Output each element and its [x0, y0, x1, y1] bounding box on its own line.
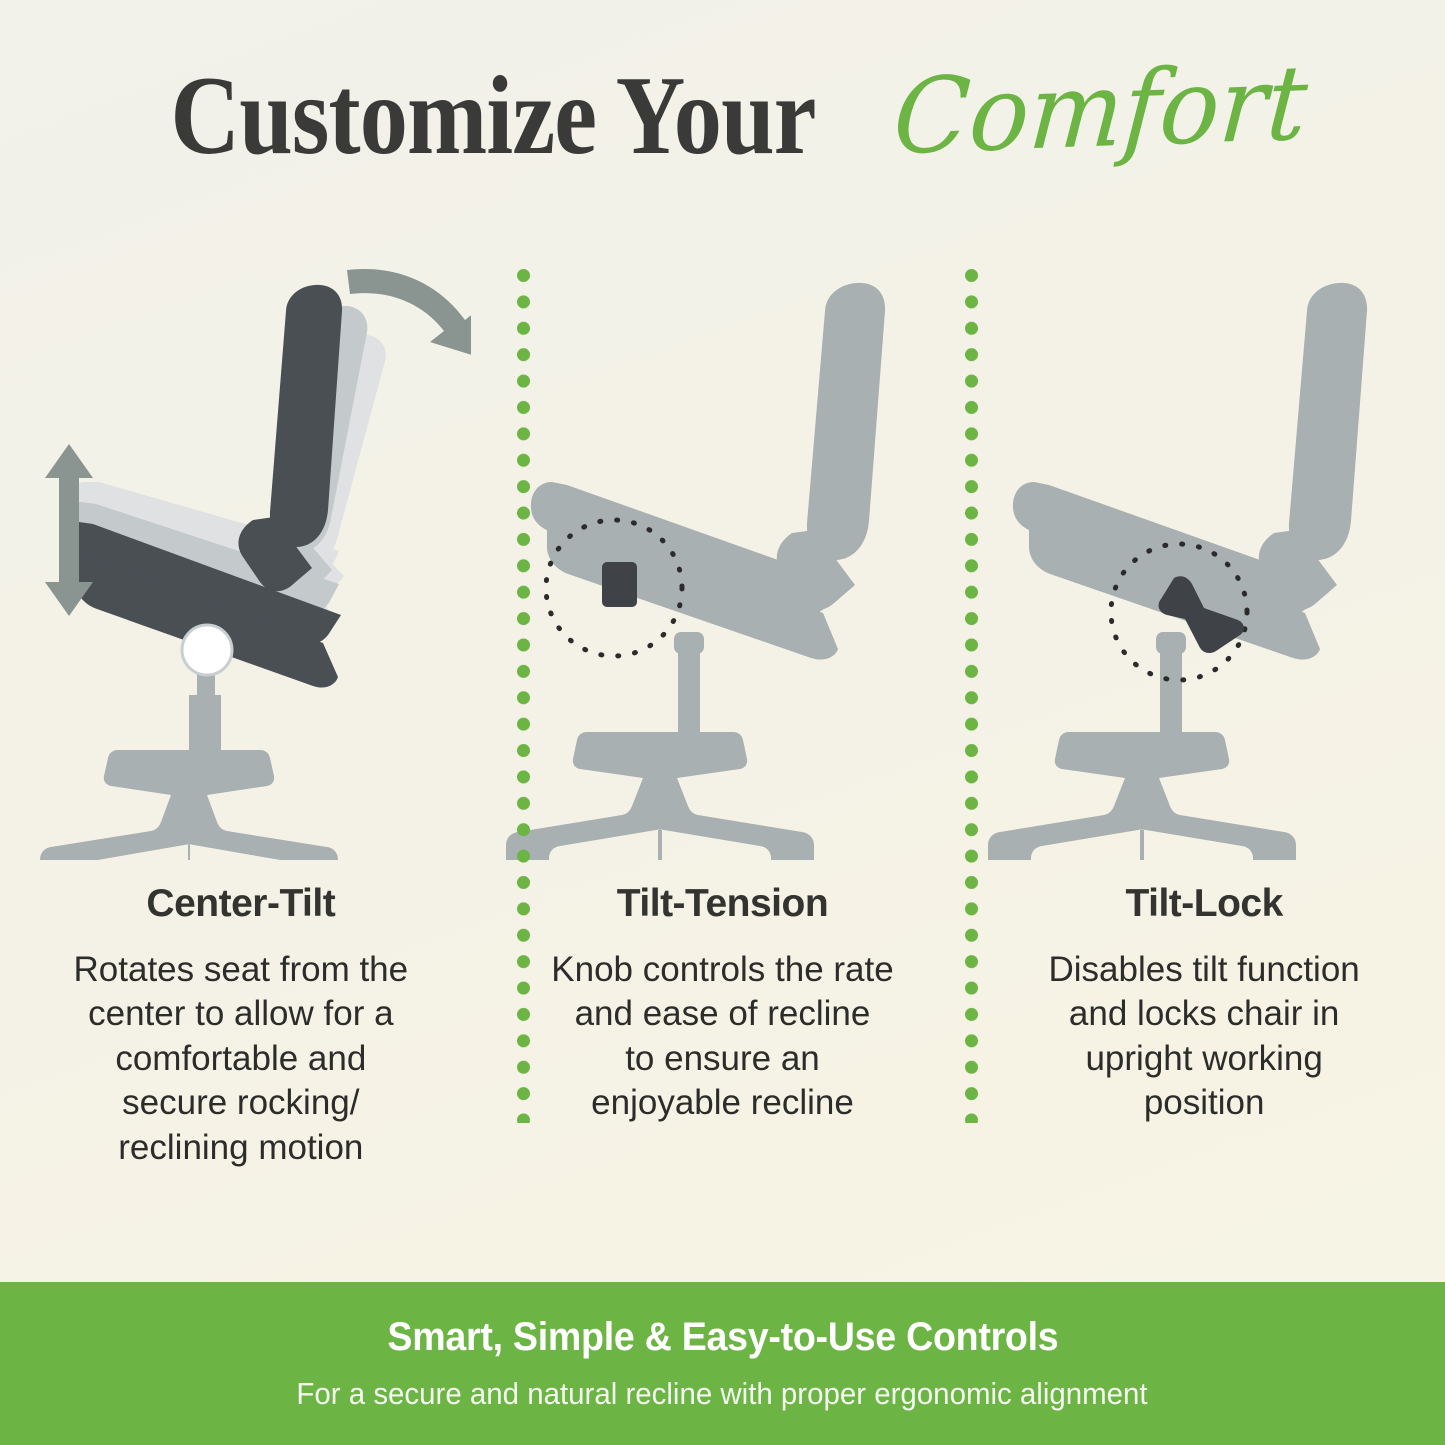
- desc-line: to ensure an: [542, 1037, 902, 1081]
- chair-backrest: [777, 283, 885, 610]
- chair-base: [506, 732, 814, 860]
- feature-column-tilt-tension: Tilt-Tension Knob controls the rate and …: [482, 230, 964, 1280]
- chair-backrest: [1259, 283, 1367, 610]
- desc-line: secure rocking/: [61, 1081, 421, 1125]
- dotted-vertical-divider-2: [964, 268, 979, 1123]
- column-title-tilt-lock: Tilt-Lock: [1125, 882, 1282, 926]
- column-title-tilt-tension: Tilt-Tension: [617, 882, 828, 926]
- desc-line: reclining motion: [61, 1126, 421, 1170]
- column-description-tilt-lock: Disables tilt function and locks chair i…: [1024, 948, 1384, 1126]
- pivot-circle: [182, 625, 232, 675]
- header: Customize YourComfort: [0, 0, 1445, 230]
- desc-line: comfortable and: [61, 1037, 421, 1081]
- column-description-center-tilt: Rotates seat from the center to allow fo…: [61, 948, 421, 1170]
- office-chair-center-tilt-illustration: [11, 240, 471, 860]
- desc-line: and locks chair in: [1024, 992, 1384, 1036]
- desc-line: enjoyable recline: [542, 1081, 902, 1125]
- footer-banner: Smart, Simple & Easy-to-Use Controls For…: [0, 1282, 1445, 1445]
- title-script-text: Comfort: [890, 50, 1310, 168]
- desc-line: Rotates seat from the: [61, 948, 421, 992]
- column-title-center-tilt: Center-Tilt: [146, 882, 335, 926]
- dotted-vertical-divider-1: [516, 268, 531, 1123]
- column-description-tilt-tension: Knob controls the rate and ease of recli…: [542, 948, 902, 1126]
- page-title: Customize YourComfort: [0, 58, 1445, 176]
- feature-columns: Center-Tilt Rotates seat from the center…: [0, 230, 1445, 1280]
- feature-column-center-tilt: Center-Tilt Rotates seat from the center…: [0, 230, 482, 1280]
- desc-line: Disables tilt function: [1024, 948, 1384, 992]
- title-main-text: Customize Your: [170, 58, 815, 176]
- tension-knob: [602, 562, 637, 607]
- cylinder-collar: [674, 632, 704, 654]
- footer-title: Smart, Simple & Easy-to-Use Controls: [387, 1315, 1058, 1360]
- desc-line: Knob controls the rate: [542, 948, 902, 992]
- office-chair-tilt-tension-illustration: [492, 240, 952, 860]
- cylinder-collar: [1156, 632, 1186, 654]
- office-chair-tilt-lock-illustration: [974, 240, 1434, 860]
- desc-line: upright working: [1024, 1037, 1384, 1081]
- feature-column-tilt-lock: Tilt-Lock Disables tilt function and loc…: [963, 230, 1445, 1280]
- footer-subtitle: For a secure and natural recline with pr…: [297, 1376, 1148, 1412]
- desc-line: center to allow for a: [61, 992, 421, 1036]
- chair-base: [988, 732, 1296, 860]
- chair-base: [40, 695, 338, 860]
- desc-line: position: [1024, 1081, 1384, 1125]
- desc-line: and ease of recline: [542, 992, 902, 1036]
- infographic-poster: Customize YourComfort: [0, 0, 1445, 1445]
